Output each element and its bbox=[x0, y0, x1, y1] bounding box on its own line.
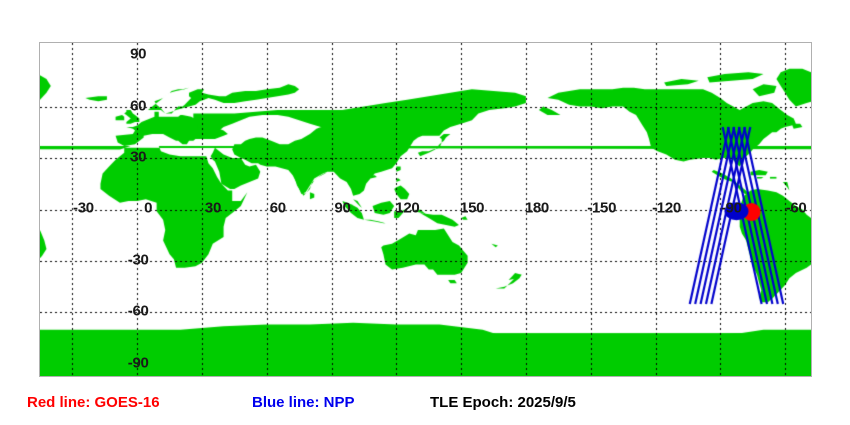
lat-tick-label: -60 bbox=[128, 304, 149, 319]
lat-tick-label: -90 bbox=[128, 355, 149, 370]
lon-tick-label: -60 bbox=[786, 200, 807, 215]
lon-tick-label: -90 bbox=[721, 200, 742, 215]
lon-tick-label: 90 bbox=[335, 200, 351, 215]
ground-track-map-view: -300306090120150180-150-120-90-60906030-… bbox=[0, 0, 850, 425]
legend-goes16: Red line: GOES-16 bbox=[27, 395, 160, 410]
legend-npp: Blue line: NPP bbox=[252, 395, 355, 410]
lon-tick-label: -120 bbox=[652, 200, 681, 215]
lon-tick-label: 120 bbox=[395, 200, 419, 215]
satellite-track-layer bbox=[40, 43, 811, 376]
lon-tick-label: 180 bbox=[525, 200, 549, 215]
lat-tick-label: -30 bbox=[128, 252, 149, 267]
lon-tick-label: 0 bbox=[144, 200, 152, 215]
lon-tick-label: 30 bbox=[205, 200, 221, 215]
legend-tle-epoch: TLE Epoch: 2025/9/5 bbox=[430, 395, 576, 410]
lat-tick-label: 30 bbox=[130, 150, 146, 165]
map-frame bbox=[39, 42, 812, 377]
legend-caption: Red line: GOES-16 Blue line: NPP TLE Epo… bbox=[0, 390, 850, 420]
lon-tick-label: -150 bbox=[587, 200, 616, 215]
lon-tick-label: -30 bbox=[73, 200, 94, 215]
lat-tick-label: 60 bbox=[130, 98, 146, 113]
lat-tick-label: 90 bbox=[130, 47, 146, 62]
lon-tick-label: 150 bbox=[460, 200, 484, 215]
lon-tick-label: 60 bbox=[270, 200, 286, 215]
